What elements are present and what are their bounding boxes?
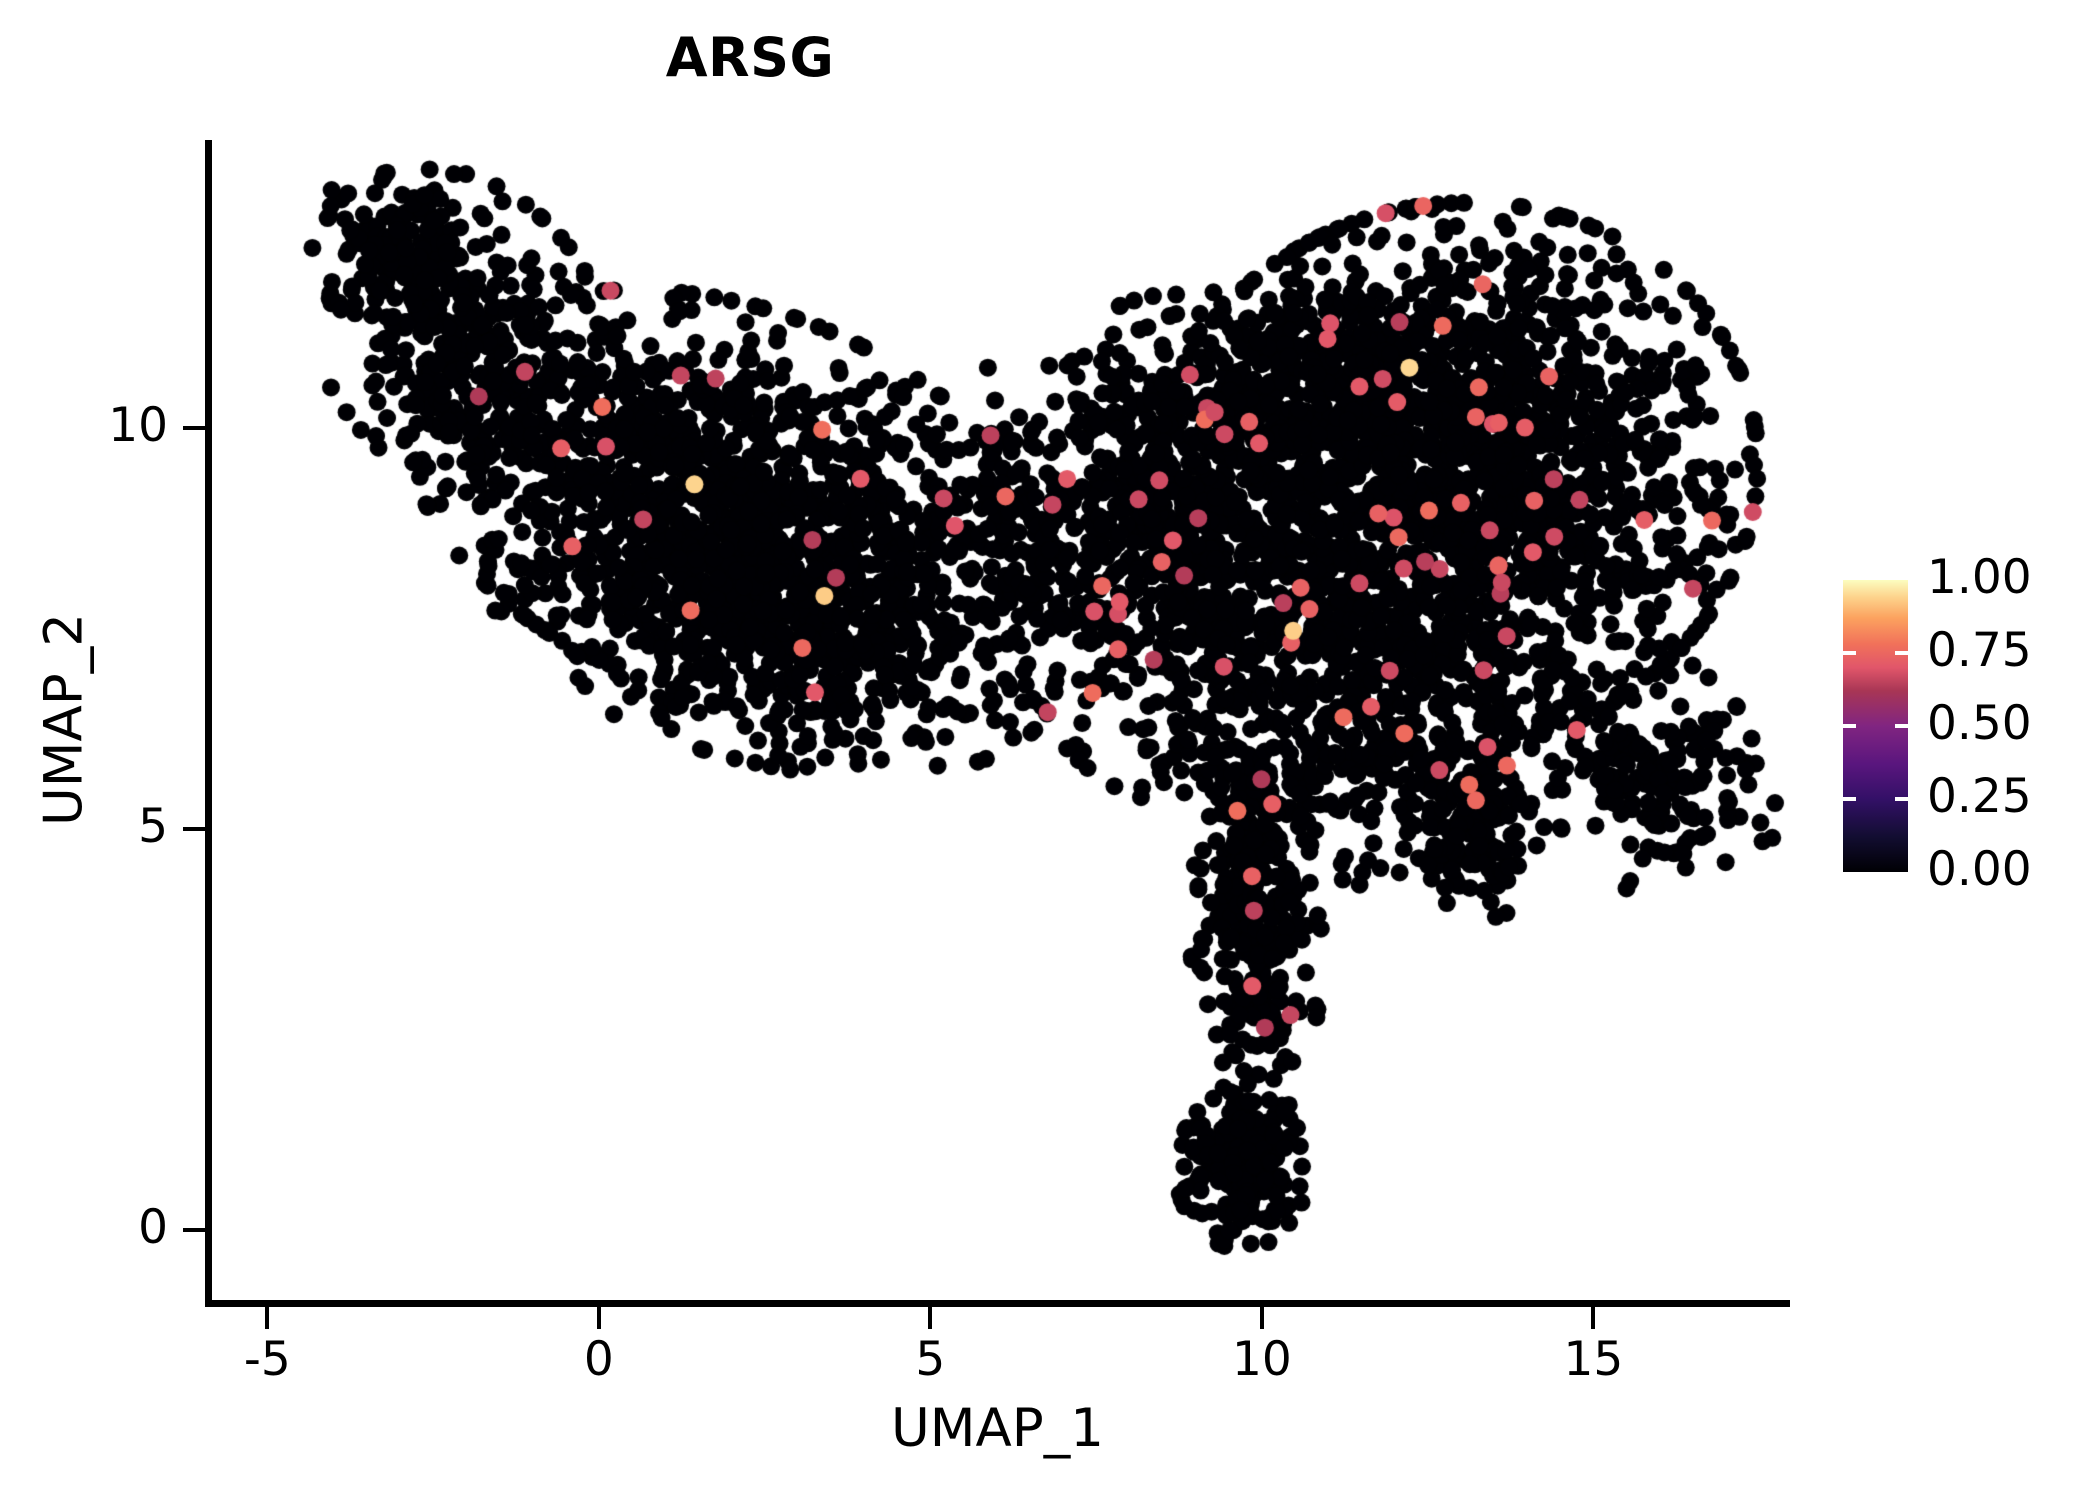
colorbar-tick-label: 0.25 [1927,769,2087,824]
x-tick-label: 15 [1493,1332,1693,1387]
x-tick-mark [265,1307,269,1329]
chart-root: ARSG -5051015 0510 UMAP_1 UMAP_2 1.000.7… [0,0,2100,1500]
colorbar-tick-mark [1843,797,1856,801]
scatter-points-canvas [211,140,1789,1306]
page-title: ARSG [0,26,1500,89]
x-tick-mark [928,1307,932,1329]
y-tick-mark [183,1228,205,1232]
colorbar: 1.000.750.500.250.00 [1843,580,2083,872]
x-tick-label: 10 [1162,1332,1362,1387]
x-tick-mark [1260,1307,1264,1329]
colorbar-tick-mark [1895,724,1908,728]
colorbar-tick-label: 0.75 [1927,623,2087,678]
y-axis-spine [205,140,212,1307]
x-tick-label: 5 [830,1332,1030,1387]
x-axis-spine [205,1300,1790,1307]
colorbar-tick-label: 0.50 [1927,696,2087,751]
y-tick-mark [183,426,205,430]
x-tick-label: -5 [167,1332,367,1387]
x-axis-label: UMAP_1 [205,1398,1790,1459]
x-tick-mark [597,1307,601,1329]
colorbar-tick-mark [1843,651,1856,655]
colorbar-tick-mark [1895,651,1908,655]
x-tick-mark [1591,1307,1595,1329]
x-tick-label: 0 [499,1332,699,1387]
scatter-plot-area [211,140,1789,1306]
y-tick-mark [183,827,205,831]
colorbar-tick-label: 1.00 [1927,550,2087,605]
colorbar-tick-mark [1895,797,1908,801]
colorbar-tick-label: 0.00 [1927,842,2087,897]
colorbar-tick-mark [1843,724,1856,728]
y-axis-label: UMAP_2 [34,120,95,1320]
